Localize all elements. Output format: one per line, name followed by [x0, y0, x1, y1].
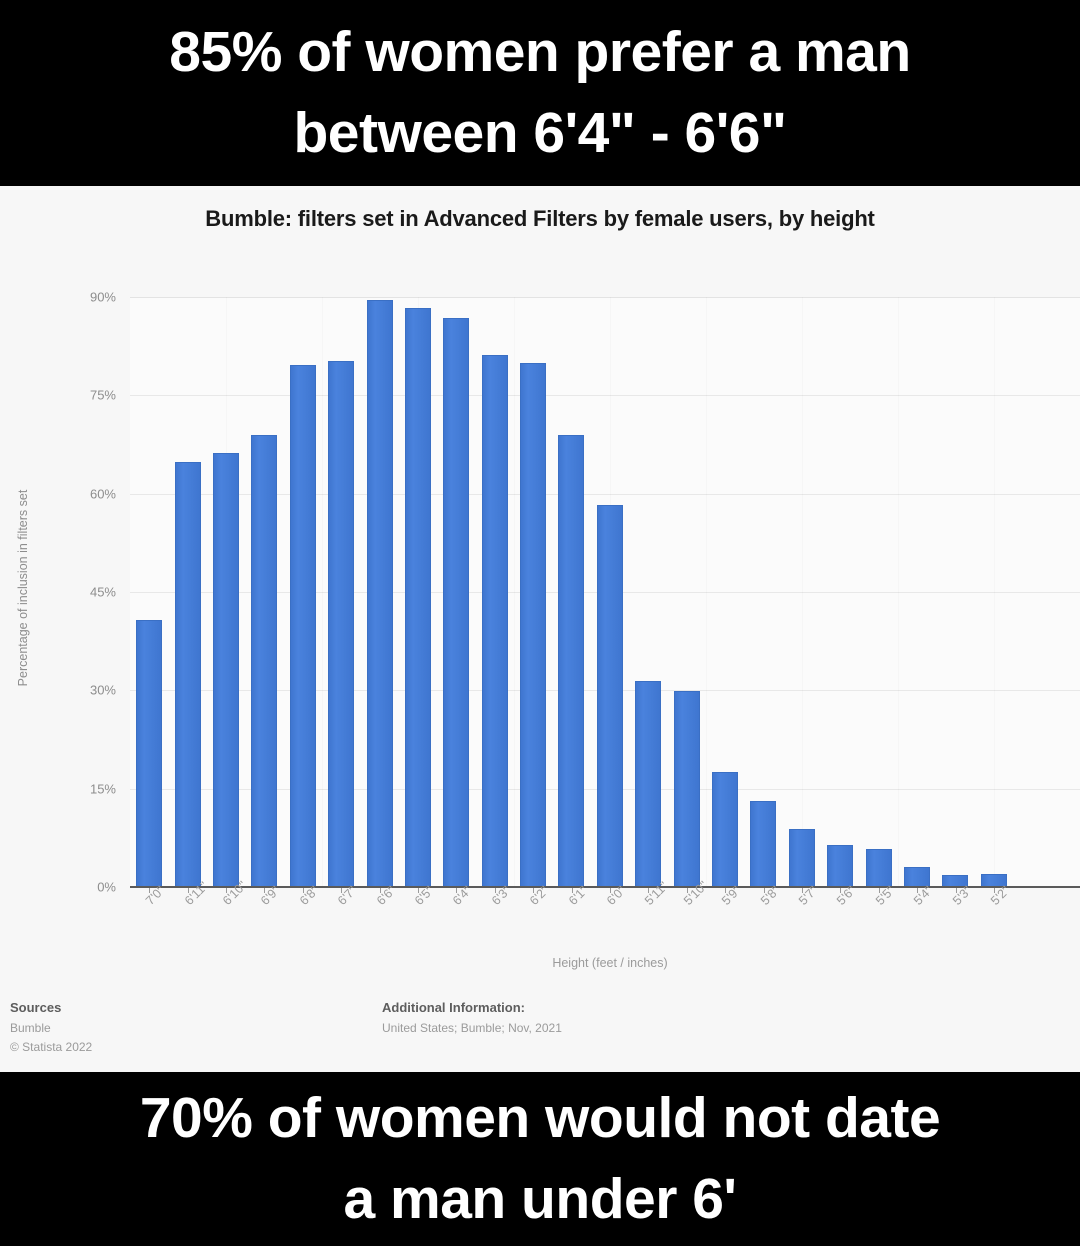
bar-series [130, 297, 1080, 887]
bar-slot [476, 297, 514, 887]
bar-slot [859, 297, 897, 887]
bar-slot [168, 297, 206, 887]
bar[interactable] [558, 435, 584, 887]
bar-slot [552, 297, 590, 887]
bar[interactable] [251, 435, 277, 887]
bottom-caption-banner: 70% of women would not date a man under … [0, 1072, 1080, 1246]
meme-image: 85% of women prefer a man between 6'4" -… [0, 0, 1080, 1246]
bar-slot [322, 297, 360, 887]
bar[interactable] [136, 620, 162, 887]
top-caption-line-2: between 6'4" - 6'6" [293, 93, 786, 174]
bar[interactable] [367, 300, 393, 887]
chart-title: Bumble: filters set in Advanced Filters … [0, 206, 1080, 232]
bar-slot [936, 297, 974, 887]
bar-slot [591, 297, 629, 887]
bar[interactable] [405, 308, 431, 888]
bar-slot [975, 297, 1013, 887]
bar[interactable] [750, 801, 776, 887]
bar[interactable] [175, 462, 201, 887]
y-tick-label: 60% [54, 486, 116, 501]
x-axis-title: Height (feet / inches) [130, 956, 1080, 970]
bar-slot [667, 297, 705, 887]
bar-slot [284, 297, 322, 887]
top-caption-banner: 85% of women prefer a man between 6'4" -… [0, 0, 1080, 186]
bar[interactable] [866, 849, 892, 887]
additional-information-heading: Additional Information: [382, 1000, 562, 1015]
bar-slot [437, 297, 475, 887]
bar-slot [821, 297, 859, 887]
bar[interactable] [328, 361, 354, 887]
bar-slot [399, 297, 437, 887]
sources-heading: Sources [10, 1000, 92, 1015]
y-tick-label: 90% [54, 290, 116, 305]
bar-slot [629, 297, 667, 887]
bar[interactable] [597, 505, 623, 887]
bar-slot [783, 297, 821, 887]
y-tick-label: 45% [54, 585, 116, 600]
bar-slot [514, 297, 552, 887]
bar-slot [130, 297, 168, 887]
y-tick-label: 0% [54, 880, 116, 895]
y-tick-label: 75% [54, 388, 116, 403]
chart-footer: Sources Bumble © Statista 2022 Additiona… [0, 994, 1080, 1072]
bar-slot [706, 297, 744, 887]
copyright-text: © Statista 2022 [10, 1038, 92, 1057]
bar-slot [245, 297, 283, 887]
bar[interactable] [635, 681, 661, 887]
bar[interactable] [674, 691, 700, 887]
bar[interactable] [213, 453, 239, 887]
bar[interactable] [827, 845, 853, 887]
x-axis-labels: 7'0"6'11"6'10"6'9"6'8"6'7"6'6"6'5"6'4"6'… [130, 892, 1080, 952]
bar[interactable] [520, 363, 546, 887]
additional-information-text: United States; Bumble; Nov, 2021 [382, 1019, 562, 1038]
y-axis-labels: 0%15%30%45%60%75%90% [54, 186, 116, 1072]
bar[interactable] [290, 365, 316, 887]
sources-block: Sources Bumble © Statista 2022 [10, 1000, 92, 1056]
bar-slot [744, 297, 782, 887]
source-name: Bumble [10, 1019, 92, 1038]
y-axis-title: Percentage of inclusion in filters set [16, 448, 30, 728]
bar[interactable] [482, 355, 508, 887]
statista-chart-panel: Bumble: filters set in Advanced Filters … [0, 186, 1080, 1072]
bar-slot [898, 297, 936, 887]
additional-information-block: Additional Information: United States; B… [382, 1000, 562, 1038]
bottom-caption-line-2: a man under 6' [343, 1159, 736, 1240]
bottom-caption-line-1: 70% of women would not date [140, 1078, 940, 1159]
y-tick-label: 30% [54, 683, 116, 698]
bar[interactable] [789, 829, 815, 887]
top-caption-line-1: 85% of women prefer a man [169, 12, 910, 93]
bar-slot [207, 297, 245, 887]
plot-area [130, 297, 1080, 887]
bar[interactable] [443, 318, 469, 887]
bar[interactable] [712, 772, 738, 887]
y-tick-label: 15% [54, 781, 116, 796]
bar-slot [360, 297, 398, 887]
